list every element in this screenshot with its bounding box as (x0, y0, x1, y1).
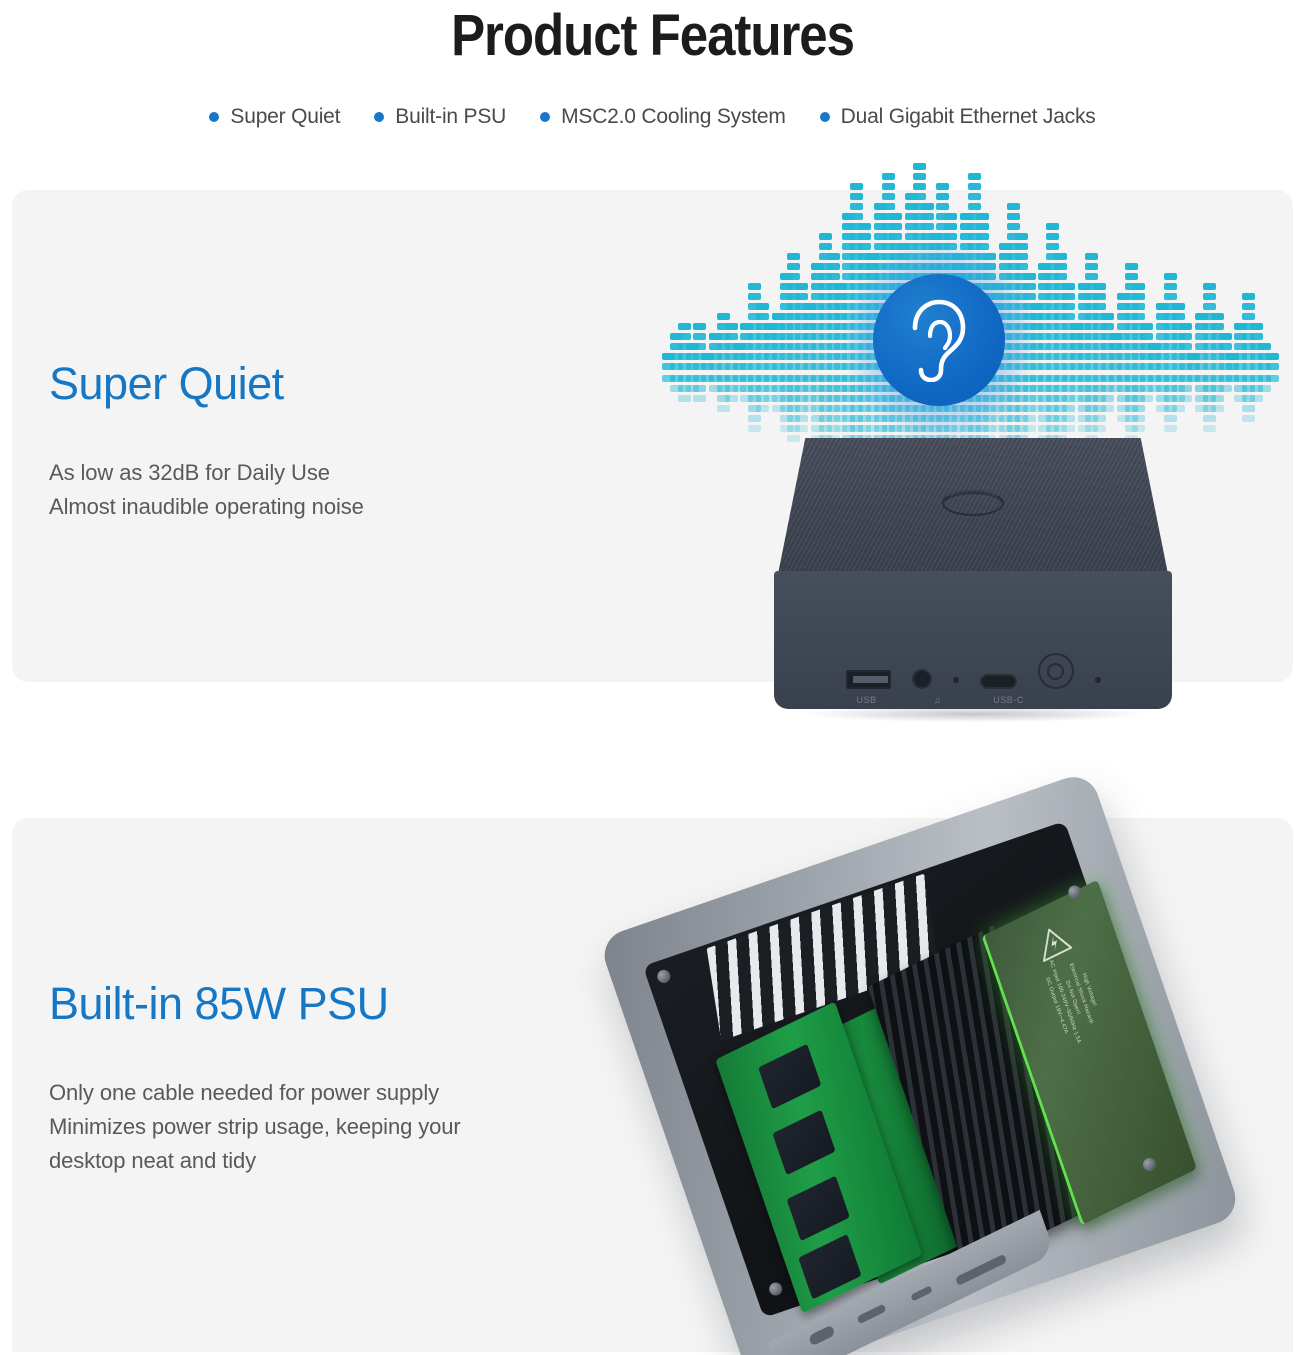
equalizer-segment (1023, 283, 1036, 290)
equalizer-segment (1132, 405, 1145, 412)
equalizer-segment (1015, 233, 1028, 240)
bullet-item-cooling-system: MSC2.0 Cooling System (540, 105, 786, 129)
equalizer-segment (1101, 395, 1114, 402)
equalizer-segment (756, 313, 769, 320)
equalizer-segment (1172, 303, 1185, 310)
equalizer-segment (1023, 415, 1036, 422)
equalizer-segment (921, 223, 934, 230)
equalizer-segment (1242, 313, 1255, 320)
equalizer-segment (1242, 405, 1255, 412)
equalizer-segment (1054, 273, 1067, 280)
equalizer-segment (1172, 405, 1185, 412)
equalizer-segment (976, 223, 989, 230)
equalizer-segment (850, 193, 863, 200)
port-label-usb-c: USB-C (984, 695, 1034, 705)
bullet-label: Dual Gigabit Ethernet Jacks (841, 105, 1096, 129)
equalizer-segment (748, 293, 761, 300)
ear-icon-badge (873, 274, 1005, 406)
equalizer-segment (889, 233, 902, 240)
equalizer-segment (913, 193, 926, 200)
feature-card-super-quiet: Super Quiet As low as 32dB for Daily Use… (12, 190, 1293, 682)
equalizer-segment (717, 405, 730, 412)
equalizer-bar-mirror (1266, 375, 1279, 385)
equalizer-segment (1062, 405, 1075, 412)
equalizer-segment (944, 223, 957, 230)
equalizer-segment (756, 405, 769, 412)
feature-heading: Built-in 85W PSU (49, 978, 504, 1030)
equalizer-segment (944, 213, 957, 220)
equalizer-segment (1015, 263, 1028, 270)
equalizer-segment (1093, 415, 1106, 422)
feature-desc-line: As low as 32dB for Daily Use (49, 456, 364, 490)
equalizer-segment (1242, 415, 1255, 422)
feature-description: As low as 32dB for Daily Use Almost inau… (49, 456, 364, 524)
equalizer-segment (693, 395, 706, 402)
equalizer-segment (1023, 293, 1036, 300)
equalizer-segment (1258, 385, 1271, 392)
equalizer-segment (795, 293, 808, 300)
mini-pc-top-surface (778, 438, 1168, 574)
feature-description: Only one cable needed for power supply M… (49, 1076, 504, 1178)
feature-card-built-in-psu: Built-in 85W PSU Only one cable needed f… (12, 818, 1293, 1352)
product-features-page: Product Features Super Quiet Built-in PS… (0, 0, 1305, 1355)
chassis-screw (656, 968, 673, 985)
equalizer-bar (1266, 353, 1279, 373)
equalizer-segment (882, 173, 895, 180)
usb-a-port-icon (846, 670, 891, 689)
equalizer-segment (1266, 363, 1279, 370)
equalizer-segment (748, 283, 761, 290)
feature-text-block: Built-in 85W PSU Only one cable needed f… (49, 978, 504, 1178)
equalizer-segment (1179, 323, 1192, 330)
ram-chip (772, 1110, 835, 1175)
equalizer-segment (1015, 253, 1028, 260)
equalizer-segment (1007, 213, 1020, 220)
equalizer-segment (693, 385, 706, 392)
feature-desc-line: Almost inaudible operating noise (49, 490, 364, 524)
equalizer-segment (858, 233, 871, 240)
equalizer-segment (1250, 323, 1263, 330)
equalizer-segment (1132, 283, 1145, 290)
equalizer-segment (1203, 293, 1216, 300)
equalizer-segment (858, 243, 871, 250)
equalizer-segment (1211, 323, 1224, 330)
equalizer-segment (725, 333, 738, 340)
usb-c-port-icon (980, 674, 1017, 689)
ram-chip (787, 1176, 850, 1241)
super-quiet-illustration: USB ♫ USB-C (662, 190, 1282, 682)
equalizer-segment (1007, 203, 1020, 210)
equalizer-segment (1219, 343, 1232, 350)
equalizer-segment (1046, 243, 1059, 250)
equalizer-segment (968, 203, 981, 210)
equalizer-segment (1046, 223, 1059, 230)
equalizer-segment (921, 203, 934, 210)
equalizer-segment (693, 343, 706, 350)
ram-chip (758, 1044, 821, 1109)
equalizer-segment (1203, 283, 1216, 290)
equalizer-segment (1266, 353, 1279, 360)
equalizer-segment (1085, 273, 1098, 280)
equalizer-segment (1085, 263, 1098, 270)
equalizer-segment (1266, 375, 1279, 382)
equalizer-segment (795, 283, 808, 290)
equalizer-segment (1219, 333, 1232, 340)
mini-pc-port-cluster: USB ♫ USB-C (774, 653, 1172, 705)
equalizer-segment (968, 193, 981, 200)
equalizer-segment (1140, 395, 1153, 402)
equalizer-segment (1101, 405, 1114, 412)
port-label-power (1055, 695, 1105, 705)
equalizer-segment (1258, 343, 1271, 350)
equalizer-segment (1250, 333, 1263, 340)
psu-warning-label: High Voltage! Electrical Shock Hazard! D… (1032, 932, 1111, 1065)
mini-pc-front-panel: USB ♫ USB-C (774, 571, 1172, 709)
ear-icon (905, 298, 973, 382)
equalizer-segment (850, 203, 863, 210)
equalizer-segment (1062, 425, 1075, 432)
feature-bullet-row: Super Quiet Built-in PSU MSC2.0 Cooling … (0, 105, 1305, 129)
equalizer-segment (748, 425, 761, 432)
equalizer-segment (1164, 293, 1177, 300)
equalizer-segment (1132, 425, 1145, 432)
equalizer-segment (1140, 323, 1153, 330)
equalizer-segment (936, 183, 949, 190)
equalizer-segment (1062, 415, 1075, 422)
feature-text-block: Super Quiet As low as 32dB for Daily Use… (49, 358, 364, 524)
equalizer-segment (889, 213, 902, 220)
equalizer-segment (1132, 293, 1145, 300)
equalizer-segment (1164, 425, 1177, 432)
equalizer-segment (968, 183, 981, 190)
equalizer-segment (913, 173, 926, 180)
equalizer-segment (1242, 293, 1255, 300)
status-led-icon (1095, 677, 1101, 683)
equalizer-segment (1093, 283, 1106, 290)
equalizer-segment (1054, 253, 1067, 260)
equalizer-segment (787, 263, 800, 270)
equalizer-segment (1054, 263, 1067, 270)
equalizer-segment (819, 233, 832, 240)
equalizer-segment (1164, 283, 1177, 290)
equalizer-segment (1179, 395, 1192, 402)
bullet-item-ethernet-jacks: Dual Gigabit Ethernet Jacks (820, 105, 1096, 129)
equalizer-segment (827, 273, 840, 280)
equalizer-segment (850, 213, 863, 220)
equalizer-segment (882, 183, 895, 190)
equalizer-segment (968, 173, 981, 180)
equalizer-segment (1164, 273, 1177, 280)
equalizer-segment (889, 223, 902, 230)
equalizer-segment (1101, 313, 1114, 320)
equalizer-segment (1015, 243, 1028, 250)
bullet-dot-icon (820, 112, 830, 122)
equalizer-segment (1125, 263, 1138, 270)
equalizer-segment (1125, 273, 1138, 280)
equalizer-segment (1211, 313, 1224, 320)
equalizer-segment (882, 203, 895, 210)
equalizer-segment (1140, 333, 1153, 340)
port-label-row: USB ♫ USB-C (774, 695, 1172, 705)
equalizer-segment (1093, 293, 1106, 300)
equalizer-segment (976, 213, 989, 220)
equalizer-segment (1172, 313, 1185, 320)
brand-swirl-logo-icon (942, 490, 1004, 516)
bullet-item-built-in-psu: Built-in PSU (374, 105, 506, 129)
equalizer-segment (976, 243, 989, 250)
equalizer-segment (1132, 415, 1145, 422)
equalizer-segment (748, 415, 761, 422)
equalizer-segment (913, 163, 926, 170)
bullet-label: Built-in PSU (395, 105, 506, 129)
mic-pinhole-icon (953, 677, 959, 683)
equalizer-segment (819, 243, 832, 250)
mini-pc-opened-device: High Voltage! Electrical Shock Hazard! D… (598, 770, 1243, 1355)
feature-desc-line: Minimizes power strip usage, keeping you… (49, 1110, 504, 1178)
equalizer-segment (1132, 313, 1145, 320)
equalizer-segment (1179, 333, 1192, 340)
equalizer-segment (693, 323, 706, 330)
equalizer-segment (678, 333, 691, 340)
headphone-jack-icon (912, 669, 932, 689)
equalizer-segment (678, 323, 691, 330)
equalizer-segment (1062, 303, 1075, 310)
equalizer-segment (913, 183, 926, 190)
equalizer-segment (827, 263, 840, 270)
bullet-dot-icon (374, 112, 384, 122)
equalizer-segment (1250, 395, 1263, 402)
equalizer-segment (1093, 425, 1106, 432)
equalizer-segment (1179, 343, 1192, 350)
equalizer-segment (1101, 323, 1114, 330)
equalizer-segment (795, 415, 808, 422)
equalizer-segment (944, 233, 957, 240)
equalizer-segment (936, 193, 949, 200)
equalizer-segment (1062, 313, 1075, 320)
equalizer-segment (921, 213, 934, 220)
equalizer-segment (1211, 395, 1224, 402)
chassis-screw (767, 1281, 784, 1298)
equalizer-segment (1203, 425, 1216, 432)
page-title: Product Features (78, 0, 1226, 69)
front-usb-c-port-icon (857, 1304, 887, 1325)
equalizer-segment (1164, 415, 1177, 422)
equalizer-segment (795, 425, 808, 432)
equalizer-segment (1132, 303, 1145, 310)
power-button[interactable] (1038, 653, 1074, 689)
equalizer-segment (1023, 425, 1036, 432)
feature-heading: Super Quiet (49, 358, 364, 410)
bullet-label: Super Quiet (230, 105, 340, 129)
equalizer-segment (717, 313, 730, 320)
front-audio-jack-icon (910, 1285, 932, 1301)
equalizer-segment (1242, 303, 1255, 310)
built-in-psu-illustration: High Voltage! Electrical Shock Hazard! D… (620, 832, 1292, 1352)
equalizer-segment (936, 203, 949, 210)
equalizer-segment (1211, 405, 1224, 412)
equalizer-segment (1062, 293, 1075, 300)
bullet-label: MSC2.0 Cooling System (561, 105, 786, 129)
equalizer-segment (678, 395, 691, 402)
equalizer-segment (787, 253, 800, 260)
feature-desc-line: Only one cable needed for power supply (49, 1076, 504, 1110)
equalizer-segment (1203, 303, 1216, 310)
bullet-item-super-quiet: Super Quiet (209, 105, 340, 129)
equalizer-segment (1203, 415, 1216, 422)
equalizer-segment (850, 183, 863, 190)
equalizer-segment (1062, 283, 1075, 290)
equalizer-segment (1023, 273, 1036, 280)
equalizer-segment (725, 323, 738, 330)
port-label-headphone: ♫ (913, 695, 963, 705)
bullet-dot-icon (209, 112, 219, 122)
equalizer-segment (1219, 385, 1232, 392)
equalizer-segment (858, 223, 871, 230)
equalizer-segment (1179, 385, 1192, 392)
equalizer-segment (693, 333, 706, 340)
equalizer-segment (1085, 253, 1098, 260)
equalizer-segment (725, 395, 738, 402)
device-shadow (806, 706, 1142, 722)
equalizer-segment (882, 193, 895, 200)
front-power-button[interactable] (808, 1325, 835, 1347)
equalizer-segment (756, 303, 769, 310)
equalizer-segment (787, 273, 800, 280)
equalizer-segment (1046, 233, 1059, 240)
bullet-dot-icon (540, 112, 550, 122)
equalizer-segment (976, 233, 989, 240)
equalizer-segment (827, 253, 840, 260)
port-label-usb: USB (842, 695, 892, 705)
equalizer-segment (1007, 223, 1020, 230)
equalizer-segment (1093, 303, 1106, 310)
mini-pc-device: USB ♫ USB-C (752, 438, 1192, 738)
